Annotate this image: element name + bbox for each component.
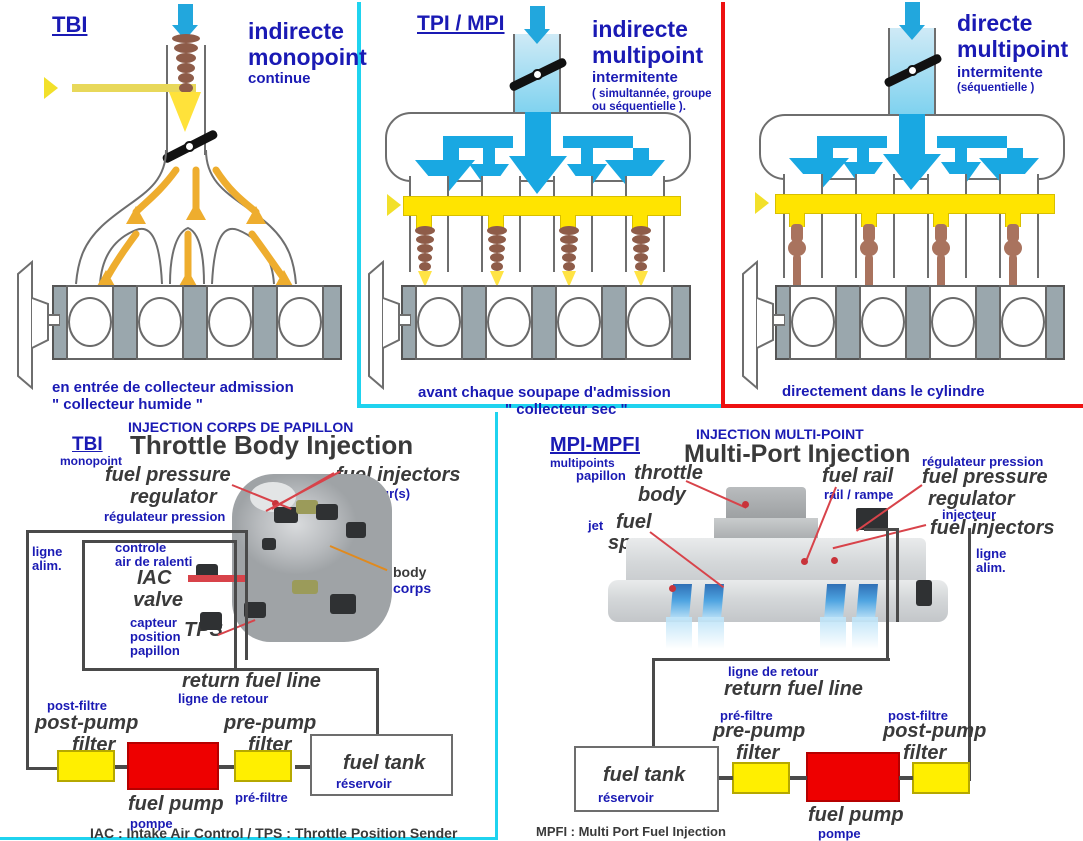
pipe-pump-to-prefilter <box>218 765 234 769</box>
callout-mpi-injectors-en: fuel injectors <box>930 517 1054 540</box>
return-line-left <box>82 540 85 670</box>
callout-mpi-throttle-en1: throttle <box>634 462 703 485</box>
mpi-intake-port-3 <box>824 584 846 620</box>
panel-tbi-heading-1: indirecte <box>248 18 344 45</box>
fuel-feed-arrowhead-tbi <box>44 77 58 99</box>
callout-mpi-throttle-fr: papillon <box>576 468 626 483</box>
return-fuel-line-fr: ligne de retour <box>178 691 268 706</box>
callout-tps-fr3: papillon <box>130 643 180 658</box>
panel-tbi-detail: INJECTION CORPS DE PAPILLON TBI monopoin… <box>0 412 497 840</box>
panel-direct-heading-2: multipoint <box>957 36 1068 63</box>
panel-direct-sub-2: (séquentielle ) <box>957 82 1034 94</box>
panel-tbi-badge: TBI <box>52 12 87 38</box>
mpi-supply-diagonal <box>896 528 899 622</box>
throttle-photo-connector-10 <box>262 538 276 550</box>
callout-iac-en1: IAC <box>137 567 171 590</box>
pointer-dot-mpi-injector <box>831 557 838 564</box>
mixture-flow-arrows-tbi <box>40 150 330 300</box>
callout-tps-fr1: capteur <box>130 615 177 630</box>
callout-body-fr: corps <box>393 580 431 596</box>
panel-tbi-heading-2: monopoint <box>248 44 367 71</box>
mpi-port-glow-2 <box>698 617 724 649</box>
panel-tpi-heading-1: indirecte <box>592 16 688 43</box>
mpi-footer-note: MPFI : Multi Port Fuel Injection <box>536 824 726 839</box>
panel-tpi-badge: TPI / MPI <box>417 12 505 36</box>
post-pump-filter-box <box>57 750 115 782</box>
air-intake-arrow-head-tpi <box>524 29 550 44</box>
post-filter-fr: post-filtre <box>47 698 107 713</box>
callout-mpi-feedline-fr1: ligne <box>976 546 1006 561</box>
mpi-return-to-tank <box>652 658 655 746</box>
mpi-fuel-pump-box <box>806 752 900 802</box>
pointer-iac <box>188 575 248 582</box>
throttle-photo-connector-4 <box>346 522 366 538</box>
mpi-fuel-pump-fr: pompe <box>818 826 861 841</box>
air-intake-arrow-head-direct <box>899 25 925 40</box>
air-intake-arrow-shaft-tpi <box>530 6 545 30</box>
pre-filter-fr: pré-filtre <box>235 790 288 805</box>
callout-fuel-pressure-regulator-en1: fuel pressure <box>105 464 231 487</box>
flywheel-tpi <box>359 258 411 403</box>
mpi-fuel-pump-en: fuel pump <box>808 804 904 827</box>
panel-direct-sub-1: intermitente <box>957 64 1043 81</box>
circuit-feed-line-fr1: ligne <box>32 544 62 559</box>
callout-body-en: body <box>393 564 426 580</box>
panel-direct-caption-1: directement dans le cylindre <box>782 383 985 400</box>
supply-line-vertical-left <box>26 530 29 770</box>
callout-mpi-throttle-en2: body <box>638 484 686 507</box>
fuel-rail-direct <box>775 194 1055 214</box>
mpi-pipe-pump-to-postfilter <box>899 776 913 780</box>
panel-direct: directe multipoint intermitente (séquent… <box>725 0 1083 408</box>
return-fuel-line-en: return fuel line <box>182 670 321 693</box>
fuel-tank-label-fr: réservoir <box>336 776 392 791</box>
mpi-post-pump-filter-box <box>912 762 970 794</box>
fuel-pump-box <box>127 742 219 790</box>
callout-iac-en2: valve <box>133 589 183 612</box>
panel-direct-heading-1: directe <box>957 10 1032 37</box>
callout-fuel-pressure-regulator-en2: regulator <box>130 486 217 509</box>
fuel-feed-arrowhead-tpi <box>387 194 401 216</box>
throttle-photo-connector-3 <box>316 504 338 520</box>
fuel-spray-cone-tbi <box>169 92 201 132</box>
panel-tpi-mpi: TPI / MPI indirecte multipoint intermite… <box>361 0 721 408</box>
fuel-feed-arrowhead-direct <box>755 192 769 214</box>
mpi-sensor-part <box>916 580 932 606</box>
supply-line-top <box>26 530 248 533</box>
circuit-feed-line-fr2: alim. <box>32 558 62 573</box>
pre-filter-en1: pre-pump <box>224 712 316 735</box>
return-line-top <box>82 540 237 543</box>
throttle-plate-hub-tpi <box>532 69 543 80</box>
fuel-tank-label-en: fuel tank <box>343 752 425 775</box>
throttle-photo-connector-1 <box>274 507 298 523</box>
panel-tbi-caption-1: en entrée de collecteur admission <box>52 379 294 396</box>
panel-tpi-sub-2: ( simultannée, groupe <box>592 88 712 100</box>
air-intake-arrow-shaft-tbi <box>178 4 193 26</box>
callout-tps-fr2: position <box>130 629 181 644</box>
mpi-fuel-tank-fr: réservoir <box>598 790 654 805</box>
return-line-right <box>234 540 237 670</box>
mpi-port-glow-3 <box>820 617 846 649</box>
pipe-prefilter-to-tank <box>295 765 311 769</box>
fuel-pump-label-en: fuel pump <box>128 793 224 816</box>
mpi-pipe-tank-to-prefilter <box>719 776 733 780</box>
callout-mpi-regulator-en1: fuel pressure <box>922 466 1048 489</box>
pre-pump-filter-box <box>234 750 292 782</box>
mpi-return-en: return fuel line <box>724 678 863 701</box>
supply-line-right <box>245 530 248 660</box>
panel-tpi-heading-2: multipoint <box>592 42 703 69</box>
flywheel-direct <box>733 258 785 403</box>
mpi-post-filter-en1: post-pump <box>883 720 986 743</box>
panel-tbi-caption-2: " collecteur humide " <box>52 396 203 413</box>
panel-tbi: TBI indirecte monopoint continue <box>0 0 357 408</box>
throttle-photo-connector-2 <box>296 500 318 514</box>
panel-tpi-caption-1: avant chaque soupape d'admission <box>418 384 671 401</box>
callout-mpi-spray-en1: fuel <box>616 511 652 534</box>
mpi-intake-port-2 <box>702 584 724 620</box>
throttle-photo-connector-9 <box>200 612 222 630</box>
panel-tpi-sub-1: intermitente <box>592 69 678 86</box>
tbi-detail-title: Throttle Body Injection <box>130 430 413 461</box>
throttle-plate-hub-direct <box>907 65 918 76</box>
callout-mpi-feedline-fr2: alim. <box>976 560 1006 575</box>
pointer-dot-mpi-spray <box>669 585 676 592</box>
mpi-pre-pump-filter-box <box>732 762 790 794</box>
mpi-detail-badge: MPI-MPFI <box>550 434 640 457</box>
callout-mpi-spray-fr: jet <box>588 518 603 533</box>
air-intake-arrow-shaft-direct <box>905 2 920 26</box>
fuel-feed-line-tbi <box>72 84 196 92</box>
mpi-return-horizontal <box>652 658 890 661</box>
pointer-dot-mpi-rail <box>801 558 808 565</box>
throttle-photo-connector-7 <box>330 594 356 614</box>
mpi-manifold-upper <box>714 518 818 540</box>
panel-mpi-detail: INJECTION MULTI-POINT MPI-MPFI multipoin… <box>498 412 1083 840</box>
mpi-supply-from-rail <box>864 528 898 531</box>
pointer-dot-mpi-throttle <box>742 501 749 508</box>
mpi-return-fr: ligne de retour <box>728 664 818 679</box>
post-filter-en1: post-pump <box>35 712 138 735</box>
pipe-postfilter-to-pump <box>114 765 128 769</box>
mpi-port-glow-1 <box>666 617 692 649</box>
tbi-footer-note: IAC : Intake Air Control / TPS : Throttl… <box>90 825 457 841</box>
panel-tbi-sub-1: continue <box>248 70 311 87</box>
mpi-pre-filter-en1: pre-pump <box>713 720 805 743</box>
mpi-port-glow-4 <box>852 617 878 649</box>
supply-line-bottom <box>26 767 60 770</box>
mpi-fuel-tank-en: fuel tank <box>603 764 685 787</box>
mpi-return-vertical-top <box>886 528 889 660</box>
tbi-detail-badge: TBI <box>72 434 103 456</box>
fuel-rail-tpi <box>403 196 681 216</box>
callout-fuel-pressure-regulator-fr: régulateur pression <box>104 509 225 524</box>
mpi-pipe-prefilter-to-pump <box>790 776 807 780</box>
throttle-photo-connector-5 <box>292 580 318 594</box>
callout-mpi-rail-en: fuel rail <box>822 465 893 488</box>
mpi-intake-port-4 <box>856 584 878 620</box>
diagram-canvas: TBI indirecte monopoint continue <box>0 0 1083 840</box>
